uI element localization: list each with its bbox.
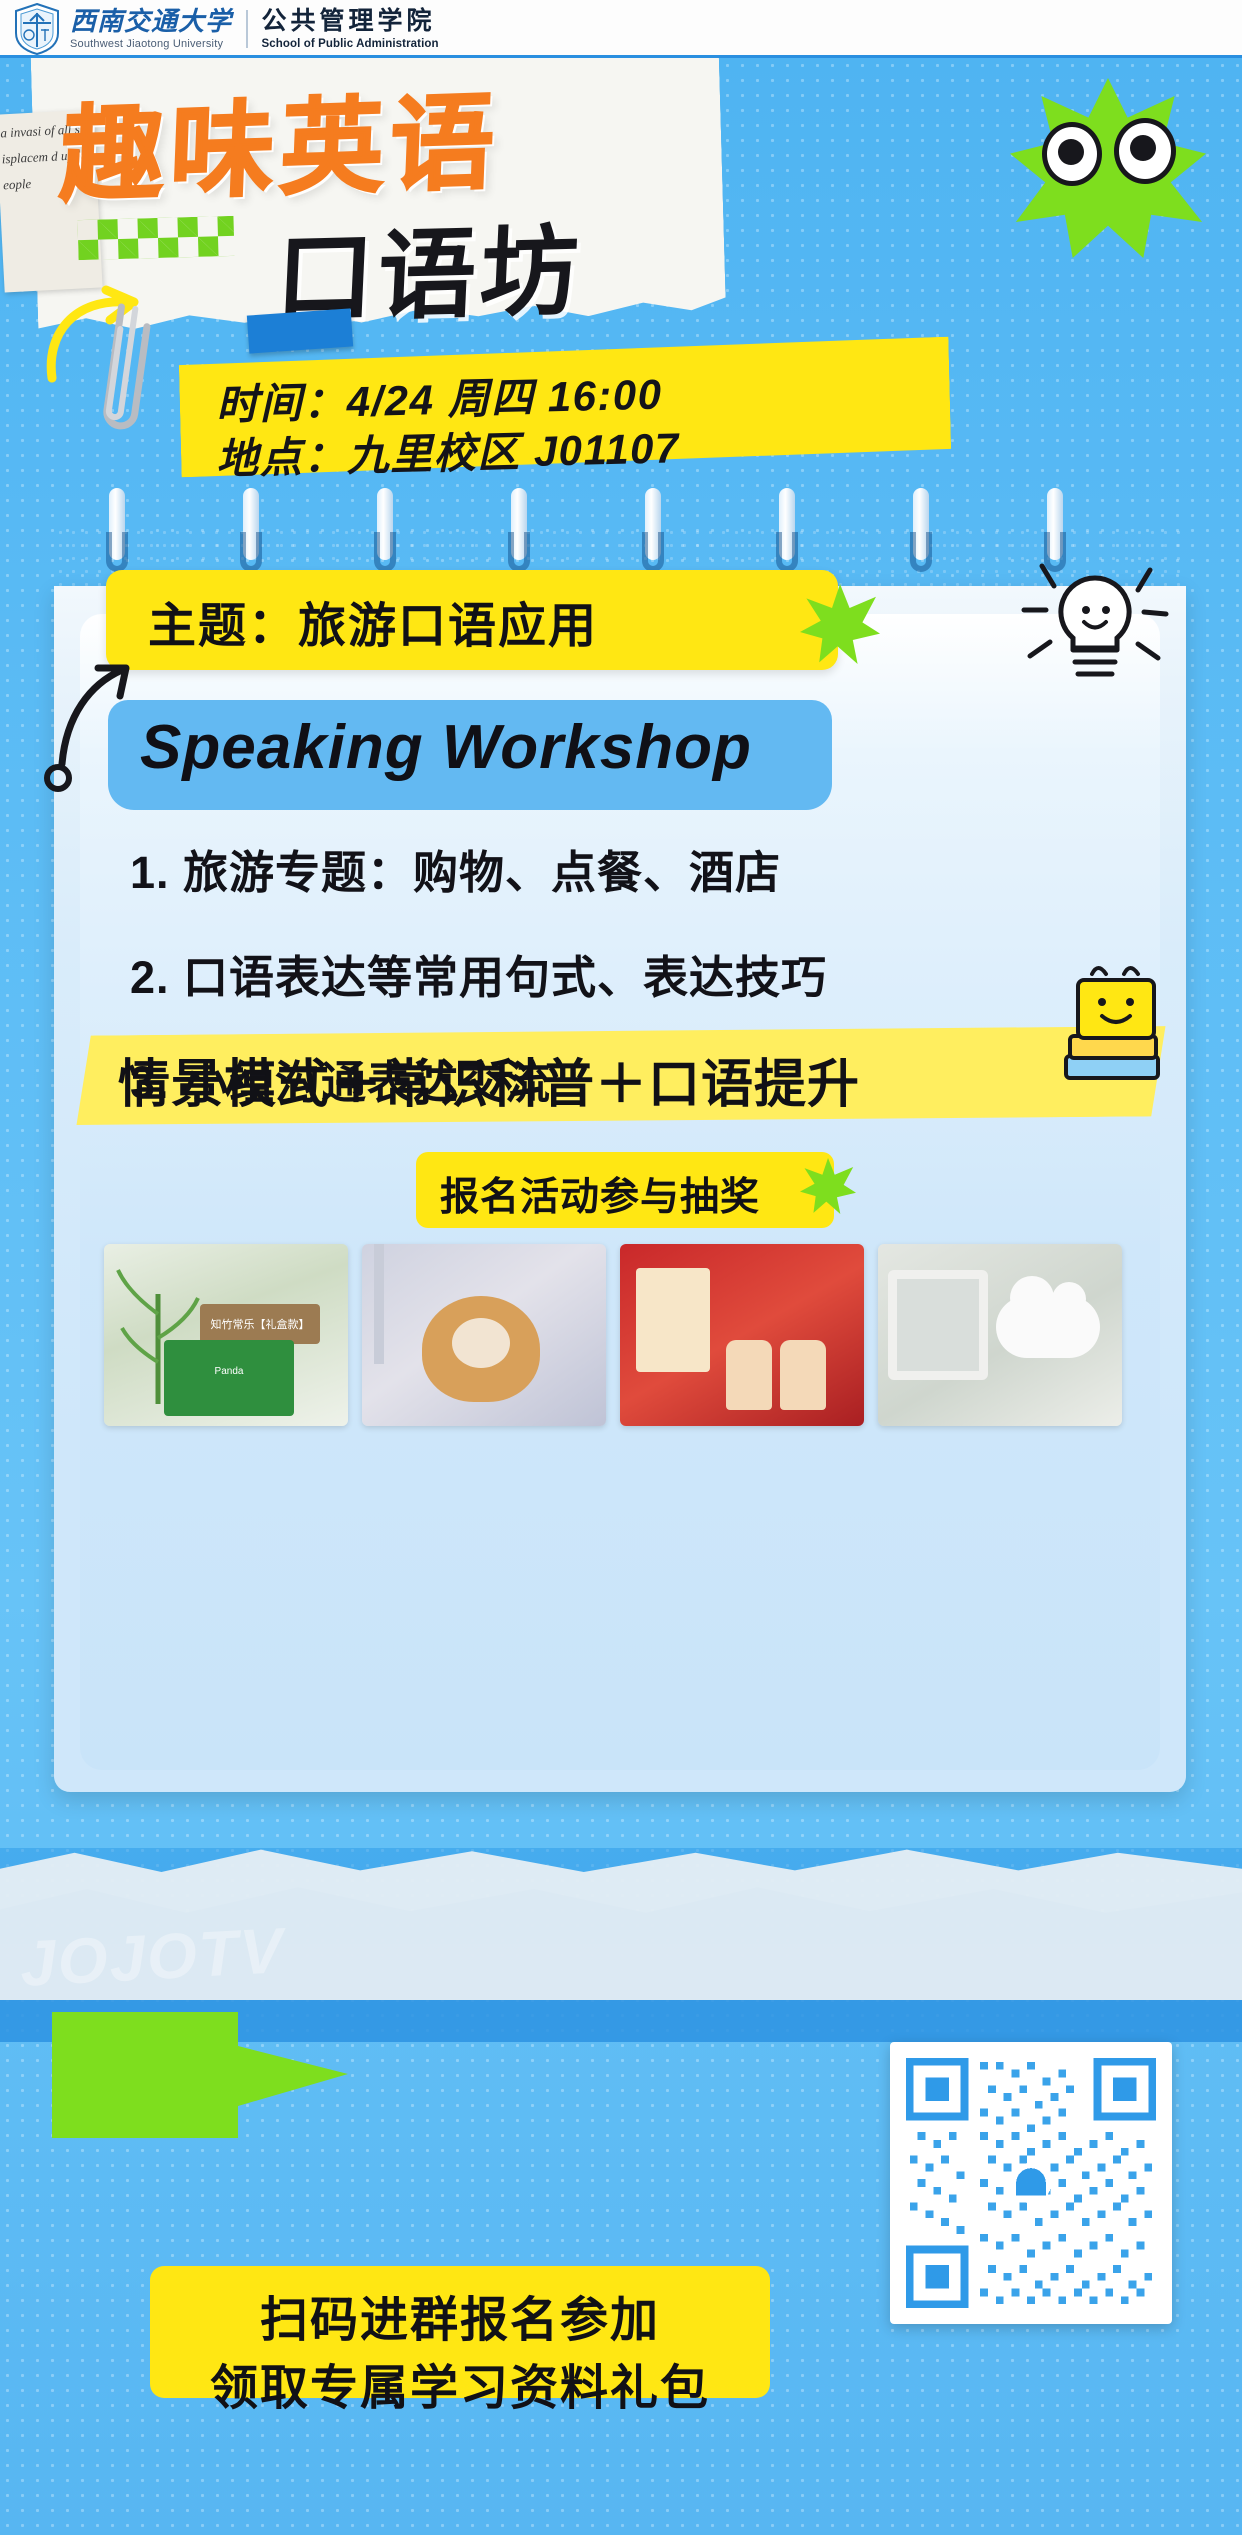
pen-arrow-icon (36, 660, 146, 800)
highlight-text: 情景模式＋常识科普＋口语提升 (118, 1042, 860, 1117)
agenda-item: 2. 口语表达等常用句式、表达技巧 (130, 941, 1070, 1006)
university-name-en: Southwest Jiaotong University (70, 38, 232, 50)
university-name-block: 西南交通大学 Southwest Jiaotong University (70, 9, 232, 50)
checker-pattern (77, 216, 234, 260)
university-name-cn: 西南交通大学 (70, 9, 232, 35)
header-divider (246, 10, 248, 48)
lottery-label: 报名活动参与抽奖 (440, 1166, 760, 1222)
googly-eyes-icon (1042, 122, 1102, 186)
prize-thumb-plush-dog-toy (362, 1244, 606, 1426)
prize-thumb-cloud-night-light (878, 1244, 1122, 1426)
university-crest-icon (14, 3, 60, 55)
cta-line-2: 领取专属学习资料礼包 (140, 2348, 780, 2418)
poster-title-main: 趣味英语 (58, 91, 502, 209)
qr-code-icon[interactable] (890, 2042, 1172, 2324)
school-name-cn: 公共管理学院 (262, 9, 439, 34)
blue-tape-icon (247, 308, 353, 353)
spiral-ring (642, 488, 664, 574)
stacked-books-icon (1058, 952, 1168, 1092)
header-rule (0, 55, 1242, 58)
spiral-ring (776, 488, 798, 574)
spiral-ring (240, 488, 262, 574)
spiral-ring (106, 488, 128, 574)
spiral-ring (508, 488, 530, 574)
prize-thumb-blind-box-figures (620, 1244, 864, 1426)
ghost-watermark: JOJOTV (18, 1913, 286, 2001)
googly-eye-right-icon (1114, 118, 1176, 184)
school-name-en: School of Public Administration (262, 38, 439, 50)
workshop-title: Speaking Workshop (140, 712, 752, 783)
prize-box: Panda (164, 1340, 294, 1416)
lightbulb-icon (1020, 548, 1170, 698)
prize-caption: 知竹常乐【礼盒款】 (200, 1304, 320, 1344)
green-arrow-icon (48, 2002, 368, 2142)
spiral-ring (374, 488, 396, 574)
school-name-block: 公共管理学院 School of Public Administration (262, 9, 439, 50)
prize-brand: Panda (164, 1366, 294, 1377)
topic-label: 主题：旅游口语应用 (148, 586, 598, 656)
prize-gallery: 知竹常乐【礼盒款】 Panda (104, 1244, 1124, 1426)
header-brand: 西南交通大学 Southwest Jiaotong University 公共管… (70, 9, 439, 50)
agenda-item: 1. 旅游专题：购物、点餐、酒店 (130, 836, 1070, 901)
spiral-ring (910, 488, 932, 574)
cta-line-1: 扫码进群报名参加 (150, 2280, 770, 2350)
event-place: 地点：九里校区 J01107 (215, 414, 680, 486)
site-header: 西南交通大学 Southwest Jiaotong University 公共管… (0, 0, 1242, 58)
prize-thumb-panda-gift-box: 知竹常乐【礼盒款】 Panda (104, 1244, 348, 1426)
